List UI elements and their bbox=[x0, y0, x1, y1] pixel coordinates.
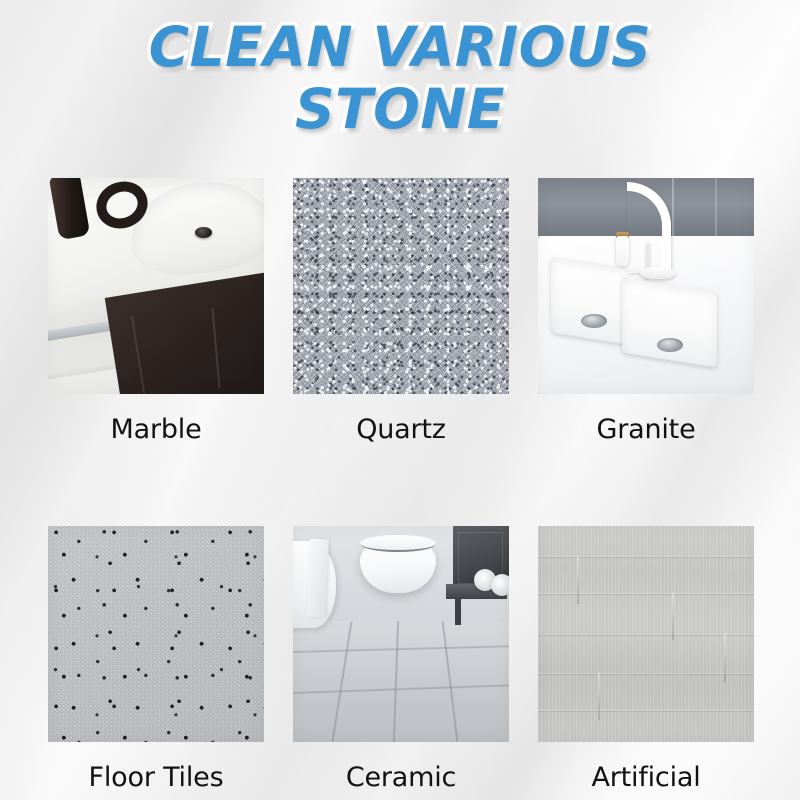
grid-item-ceramic-tiles[interactable]: Ceramic Tiles bbox=[293, 526, 509, 800]
ceramic-tiles-caption: Ceramic Tiles bbox=[293, 742, 509, 800]
stone-type-grid: Marble Quartz Granite bbox=[48, 178, 754, 800]
artificial-stone-caption: Artificial Stone bbox=[538, 742, 754, 800]
ceramic-tiles-thumbnail-image bbox=[293, 526, 509, 742]
grid-item-floor-tiles[interactable]: Floor Tiles bbox=[48, 526, 264, 800]
artificial-stone-caption-line-1: Artificial bbox=[538, 760, 754, 796]
ceramic-tiles-caption-line-1: Ceramic bbox=[293, 760, 509, 796]
floor-tiles-thumbnail-image bbox=[48, 526, 264, 742]
poster-title-line-2: STONE bbox=[0, 78, 800, 140]
granite-caption: Granite bbox=[538, 394, 754, 448]
ceramic-tiles-caption-line-2: Tiles bbox=[293, 796, 509, 800]
grid-row-spacer bbox=[48, 448, 264, 526]
artificial-stone-thumbnail-image bbox=[538, 526, 754, 742]
quartz-thumbnail-image bbox=[293, 178, 509, 394]
marble-thumbnail-image bbox=[48, 178, 264, 394]
floor-tiles-caption: Floor Tiles bbox=[48, 742, 264, 796]
grid-row-spacer bbox=[293, 448, 509, 526]
grid-item-quartz[interactable]: Quartz bbox=[293, 178, 509, 448]
grid-item-granite[interactable]: Granite bbox=[538, 178, 754, 448]
quartz-caption: Quartz bbox=[293, 394, 509, 448]
poster-title: CLEAN VARIOUS STONE bbox=[0, 16, 800, 140]
grid-item-artificial-stone[interactable]: Artificial Stone bbox=[538, 526, 754, 800]
granite-thumbnail-image bbox=[538, 178, 754, 394]
product-poster: CLEAN VARIOUS STONE Marble Quartz bbox=[0, 0, 800, 800]
poster-title-line-1: CLEAN VARIOUS bbox=[0, 16, 800, 78]
marble-caption: Marble bbox=[48, 394, 264, 448]
grid-row-spacer bbox=[538, 448, 754, 526]
grid-item-marble[interactable]: Marble bbox=[48, 178, 264, 448]
artificial-stone-caption-line-2: Stone bbox=[538, 796, 754, 800]
